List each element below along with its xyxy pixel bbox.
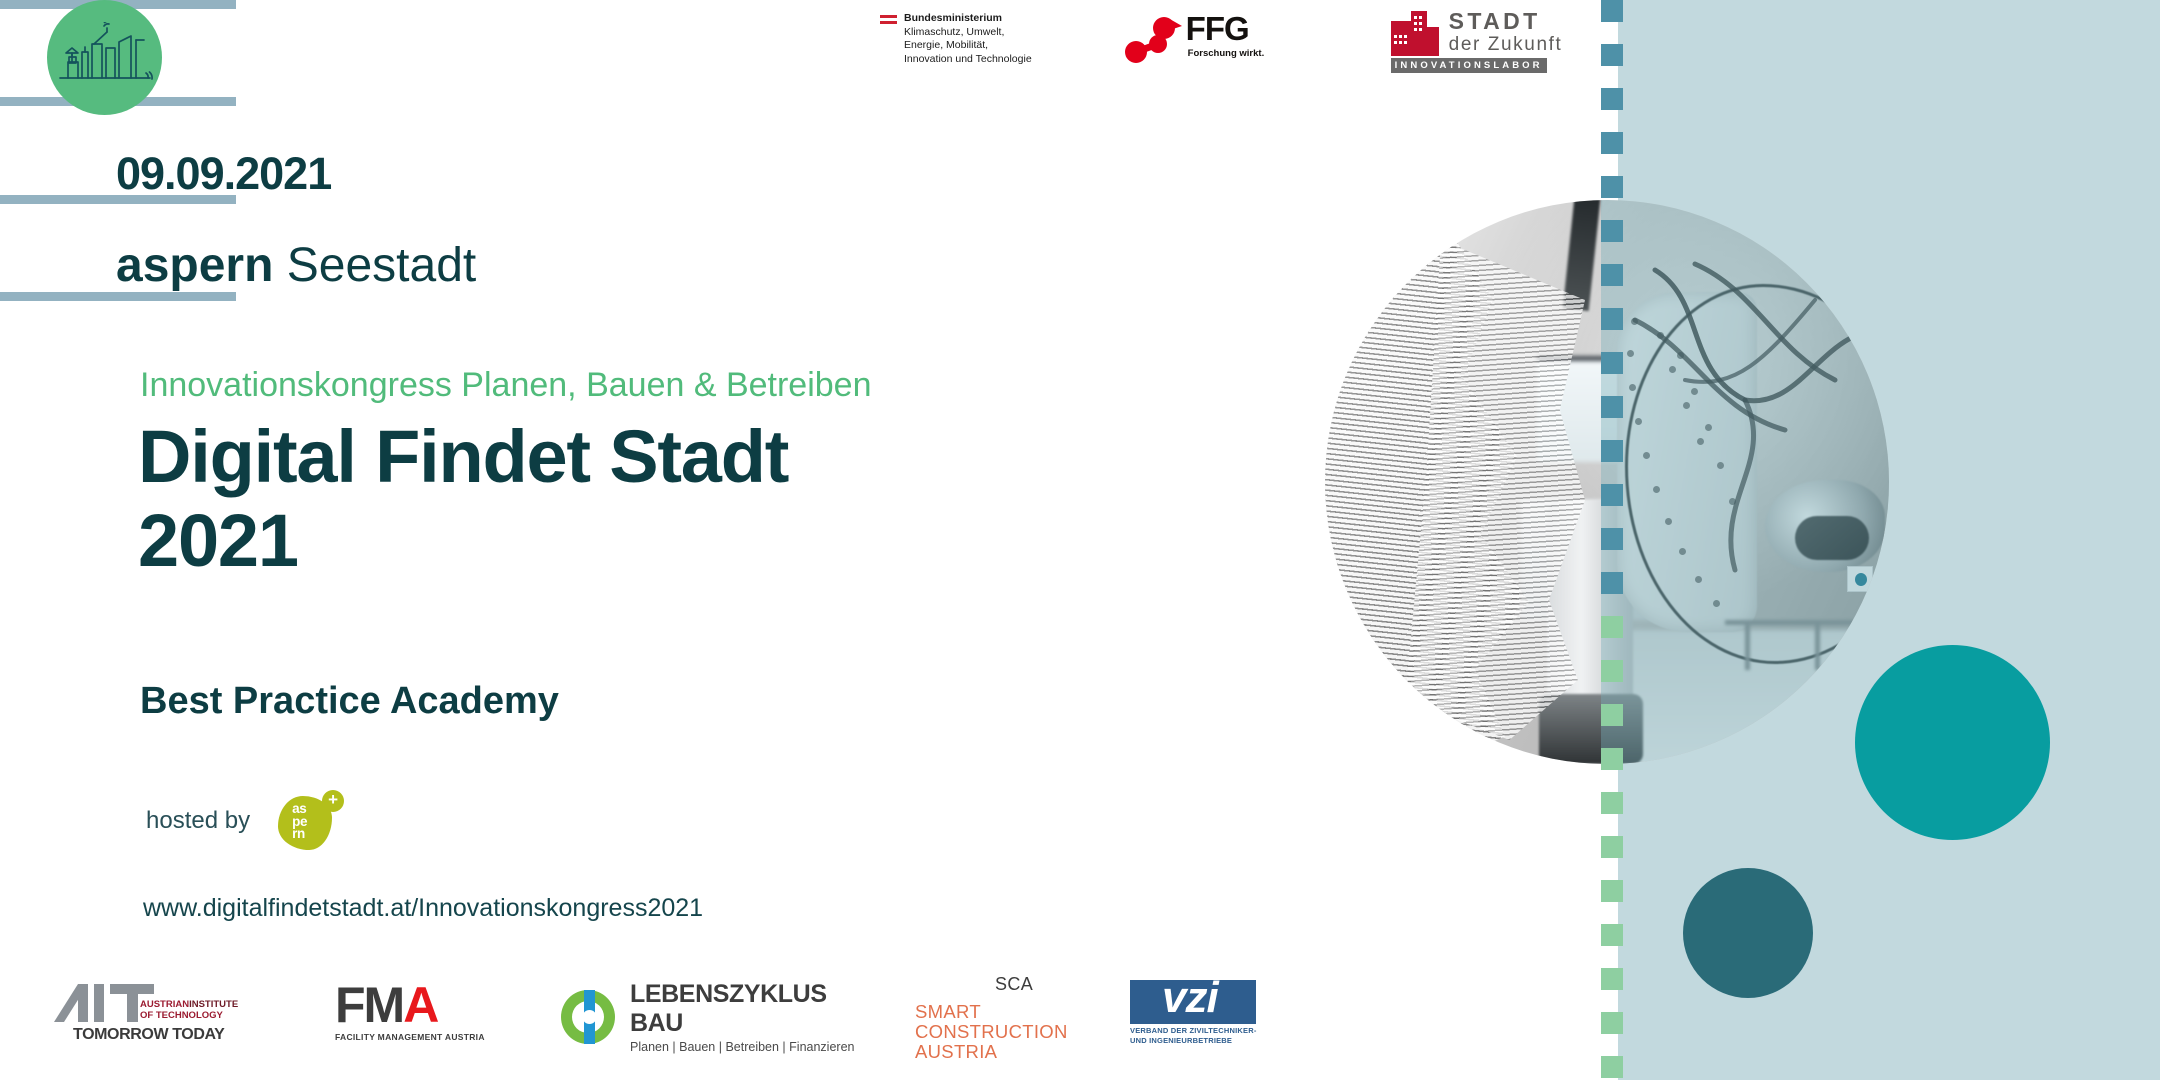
dash-square <box>1601 132 1623 154</box>
logo-bundesministerium: Bundesministerium Klimaschutz, Umwelt, E… <box>880 8 1032 66</box>
red-buildings-icon <box>1391 11 1439 56</box>
dash-square <box>1601 616 1623 638</box>
event-poster: Bundesministerium Klimaschutz, Umwelt, E… <box>0 0 2160 1080</box>
ait-tagline: TOMORROW TODAY <box>73 1026 224 1044</box>
dash-square <box>1601 660 1623 682</box>
vzi-sub-line-2: UND INGENIEURBETRIEBE <box>1130 1036 1270 1046</box>
aspern-logo: aspern + <box>278 790 344 852</box>
logo-ait: AUSTRIANINSTITUTE OF TECHNOLOGY TOMORROW… <box>48 980 258 1060</box>
lzb-wordmark: LEBENSZYKLUS BAU <box>630 980 860 1038</box>
sca-line-1: SMART <box>915 1002 1068 1022</box>
austria-flag-icon <box>880 15 897 24</box>
sdz-line-1: STADT <box>1449 8 1541 35</box>
dash-square <box>1601 1012 1623 1034</box>
fma-wordmark: FMA <box>335 980 525 1030</box>
dash-square <box>1601 1056 1623 1078</box>
sca-line-2: CONSTRUCTION <box>915 1022 1068 1042</box>
decorative-bar-4 <box>0 292 236 301</box>
dash-square <box>1601 220 1623 242</box>
page-title-line-1: Digital Findet Stadt <box>138 415 788 499</box>
sdz-badge: INNOVATIONSLABOR <box>1391 58 1547 73</box>
dash-square <box>1601 440 1623 462</box>
logo-stadt-der-zukunft: STADT der Zukunft INNOVATIONSLABOR <box>1391 8 1591 74</box>
sca-wordmark: SMART CONSTRUCTION AUSTRIA <box>915 1002 1068 1062</box>
venue-light: Seestadt <box>287 239 476 292</box>
dash-square <box>1601 572 1623 594</box>
ffg-tagline: Forschung wirkt. <box>1188 48 1265 59</box>
dash-square <box>1601 176 1623 198</box>
teal-circle-small <box>1683 868 1813 998</box>
logo-fma: FMA FACILITY MANAGEMENT AUSTRIA <box>335 980 525 1042</box>
dash-square <box>1601 704 1623 726</box>
dash-square <box>1601 924 1623 946</box>
top-partner-logos: Bundesministerium Klimaschutz, Umwelt, E… <box>880 8 1591 74</box>
vzi-box: vzi <box>1130 980 1256 1024</box>
logo-ffg: FFG Forschung wirkt. <box>1124 8 1299 70</box>
lzb-sub: Planen | Bauen | Betreiben | Finanzieren <box>630 1040 860 1054</box>
bmk-line-2: Energie, Mobilität, <box>904 39 1032 53</box>
logo-vzi: vzi VERBAND DER ZIVILTECHNIKER- UND INGE… <box>1130 980 1270 1045</box>
dash-square <box>1601 396 1623 418</box>
venue-bold: aspern <box>116 239 273 292</box>
logo-lebenszyklus-bau: LEBENSZYKLUS BAU Planen | Bauen | Betrei… <box>560 980 860 1054</box>
dashed-divider <box>1601 0 1623 1080</box>
aspern-plus-icon: + <box>322 790 344 812</box>
bmk-line-1: Klimaschutz, Umwelt, <box>904 26 1032 40</box>
event-subtitle: Best Practice Academy <box>140 680 559 723</box>
bottom-partner-logos: AUSTRIANINSTITUTE OF TECHNOLOGY TOMORROW… <box>0 980 1600 1080</box>
bmk-line-3: Innovation und Technologie <box>904 53 1032 67</box>
page-title-line-2: 2021 <box>138 499 788 583</box>
dash-square <box>1601 44 1623 66</box>
dash-square <box>1601 528 1623 550</box>
vzi-sub-line-1: VERBAND DER ZIVILTECHNIKER- <box>1130 1026 1270 1036</box>
dash-square <box>1601 484 1623 506</box>
city-skyline-crane-icon <box>47 0 162 115</box>
dash-square <box>1601 308 1623 330</box>
dash-square <box>1601 264 1623 286</box>
dash-square <box>1601 0 1623 22</box>
bmk-heading: Bundesministerium <box>904 12 1032 26</box>
dash-square <box>1601 792 1623 814</box>
hosted-by-label: hosted by <box>146 807 250 835</box>
ffg-wordmark: FFG <box>1186 10 1249 48</box>
green-c-circle-icon <box>560 987 616 1047</box>
dash-square <box>1601 836 1623 858</box>
dash-square <box>1601 352 1623 374</box>
vzi-wordmark: vzi <box>1162 980 1218 1023</box>
sca-line-3: AUSTRIA <box>915 1042 1068 1062</box>
sca-monogram: SCA <box>995 974 1033 995</box>
vzi-sub: VERBAND DER ZIVILTECHNIKER- UND INGENIEU… <box>1130 1026 1270 1045</box>
dash-square <box>1601 748 1623 770</box>
hosted-by-block: hosted by aspern + <box>146 790 344 852</box>
event-date: 09.09.2021 <box>116 148 331 200</box>
teal-circle-large <box>1855 645 2050 840</box>
page-title: Digital Findet Stadt 2021 <box>138 415 788 583</box>
ait-sub-line-1: AUSTRIANINSTITUTE <box>140 1000 238 1011</box>
event-venue: aspern Seestadt <box>116 238 476 293</box>
dash-square <box>1601 880 1623 902</box>
event-kicker: Innovationskongress Planen, Bauen & Betr… <box>140 366 872 405</box>
ffg-dots-icon <box>1124 16 1186 64</box>
fma-sub: FACILITY MANAGEMENT AUSTRIA <box>335 1032 525 1042</box>
event-url: www.digitalfindetstadt.at/Innovationskon… <box>143 894 703 923</box>
dash-square <box>1601 968 1623 990</box>
sdz-line-2: der Zukunft <box>1449 34 1563 56</box>
dash-square <box>1601 88 1623 110</box>
ait-sub-line-2: OF TECHNOLOGY <box>140 1011 238 1022</box>
aspern-wordmark: aspern <box>292 803 307 841</box>
